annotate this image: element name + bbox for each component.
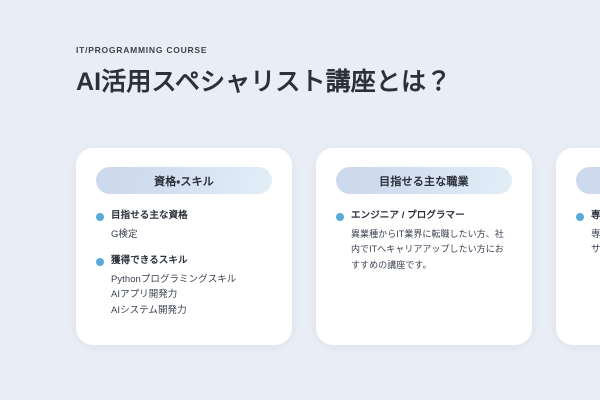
- list-item: 専: [591, 227, 600, 242]
- list-item: AIアプリ開発力: [111, 287, 272, 302]
- card-carousel[interactable]: 資格・スキル 目指せる主な資格 G検定 獲得できるスキル Pythonプログラミ…: [76, 148, 600, 345]
- group-title: 専: [591, 210, 600, 223]
- card-header-pill: [576, 167, 600, 194]
- list-item: G検定: [111, 227, 272, 242]
- page-title: AI活用スペシャリスト講座とは？: [76, 68, 451, 97]
- bullet-dot-icon: [576, 213, 584, 221]
- bullet-dot-icon: [96, 258, 104, 266]
- group-heading-row: エンジニア / プログラマー: [336, 210, 512, 223]
- group-body: G検定: [96, 227, 272, 242]
- info-card-qualifications[interactable]: 資格・スキル 目指せる主な資格 G検定 獲得できるスキル Pythonプログラミ…: [76, 148, 292, 345]
- group-title: 獲得できるスキル: [111, 255, 188, 268]
- card-group: エンジニア / プログラマー 異業種からIT業界に転職したい方、社内でITへキャ…: [336, 210, 512, 273]
- eyebrow-label: IT/PROGRAMMING COURSE: [76, 46, 451, 55]
- course-overview-section: IT/PROGRAMMING COURSE AI活用スペシャリスト講座とは？ 資…: [0, 0, 600, 400]
- group-body: Pythonプログラミングスキル AIアプリ開発力 AIシステム開発力: [96, 272, 272, 318]
- group-heading-row: 専: [576, 210, 600, 223]
- list-item: AIシステム開発力: [111, 303, 272, 318]
- bullet-dot-icon: [96, 213, 104, 221]
- bullet-dot-icon: [336, 213, 344, 221]
- list-item: サ: [591, 242, 600, 257]
- group-title: 目指せる主な資格: [111, 210, 188, 223]
- card-group: 目指せる主な資格 G検定: [96, 210, 272, 242]
- group-body: 専 サ: [576, 227, 600, 258]
- card-header-label: 目指せる主な職業: [379, 173, 469, 189]
- card-header-label: 資格・スキル: [154, 173, 214, 189]
- group-paragraph: 異業種からIT業界に転職したい方、社内でITへキャリアアップしたい方におすすめの…: [351, 227, 512, 273]
- group-body: 異業種からIT業界に転職したい方、社内でITへキャリアアップしたい方におすすめの…: [336, 227, 512, 273]
- group-title: エンジニア / プログラマー: [351, 210, 465, 223]
- group-heading-row: 獲得できるスキル: [96, 255, 272, 268]
- group-heading-row: 目指せる主な資格: [96, 210, 272, 223]
- card-header-pill: 資格・スキル: [96, 167, 272, 194]
- card-group: 専 専 サ: [576, 210, 600, 258]
- info-card-careers[interactable]: 目指せる主な職業 エンジニア / プログラマー 異業種からIT業界に転職したい方…: [316, 148, 532, 345]
- info-card-partial[interactable]: 専 専 サ: [556, 148, 600, 345]
- list-item: Pythonプログラミングスキル: [111, 272, 272, 287]
- card-group: 獲得できるスキル Pythonプログラミングスキル AIアプリ開発力 AIシステ…: [96, 255, 272, 318]
- card-header-pill: 目指せる主な職業: [336, 167, 512, 194]
- section-header: IT/PROGRAMMING COURSE AI活用スペシャリスト講座とは？: [76, 46, 451, 96]
